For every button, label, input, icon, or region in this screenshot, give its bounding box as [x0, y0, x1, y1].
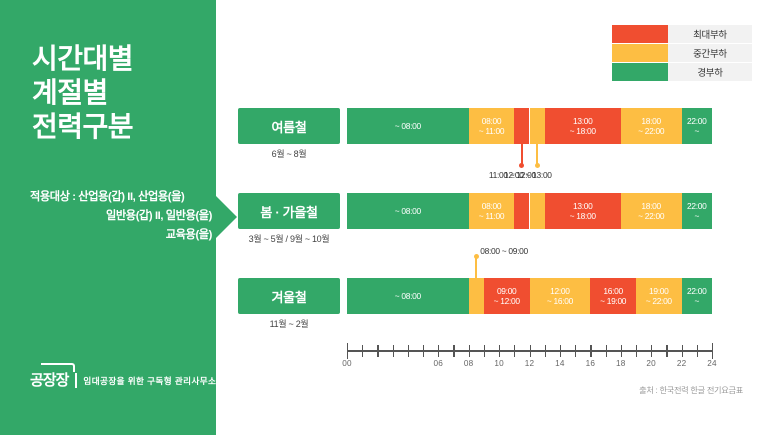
bar-segment [530, 108, 545, 144]
axis-tick-label: 00 [342, 359, 352, 368]
callout-line [475, 256, 477, 278]
callout-dot [535, 163, 540, 168]
segment-time-start: 19:00 [649, 286, 668, 297]
bar-segment: ~ 08:00 [347, 278, 469, 314]
segment-time-end: ~ 12:00 [494, 296, 520, 307]
axis-tick-label: 10 [494, 359, 504, 368]
source-note: 출처 : 한국전력 한글 전기요금표 [639, 384, 743, 396]
season-period-0: 6월 ~ 8월 [238, 147, 340, 160]
time-axis: 0006081012141618202224 [347, 350, 712, 352]
bar-segment: 08:00~ 11:00 [469, 108, 515, 144]
bar-segment: 08:00~ 11:00 [469, 193, 515, 229]
axis-tick [393, 345, 394, 357]
bar-segment: 12:00~ 16:00 [530, 278, 591, 314]
axis-tick [575, 345, 576, 357]
segment-time-start: 09:00 [497, 286, 516, 297]
bar-segment: 19:00~ 22:00 [636, 278, 682, 314]
season-bar-1: ~ 08:0008:00~ 11:0013:00~ 18:0018:00~ 22… [347, 193, 712, 229]
segment-time-end: ~ [694, 296, 699, 307]
bar-segment: 22:00~ [682, 278, 712, 314]
segment-time-end: ~ 16:00 [547, 296, 573, 307]
axis-tick [499, 345, 500, 357]
segment-time-start: 13:00 [573, 116, 592, 127]
axis-tick-label: 24 [707, 359, 717, 368]
segment-time-end: ~ [694, 211, 699, 222]
segment-time-end: ~ [694, 126, 699, 137]
chart-area: 여름철6월 ~ 8월~ 08:0008:00~ 11:0013:00~ 18:0… [0, 0, 773, 435]
bar-segment: ~ 08:00 [347, 193, 469, 229]
axis-tick-label: 18 [616, 359, 626, 368]
bar-segment: 18:00~ 22:00 [621, 193, 682, 229]
segment-time-end: ~ 11:00 [479, 126, 504, 137]
segment-time-start: 22:00 [687, 286, 706, 297]
axis-tick-label: 20 [646, 359, 656, 368]
axis-tick [514, 345, 515, 357]
bar-segment: 18:00~ 22:00 [621, 108, 682, 144]
callout-label: 12:00 ~ 13:00 [504, 170, 552, 180]
season-label-1: 봄 · 가을철 [238, 193, 340, 229]
season-label-2: 겨울철 [238, 278, 340, 314]
bar-segment: 13:00~ 18:00 [545, 193, 621, 229]
axis-tick [377, 345, 378, 357]
axis-tick [484, 345, 485, 357]
axis-tick [682, 345, 683, 357]
segment-time-end: ~ 18:00 [570, 211, 596, 222]
axis-tick [347, 343, 348, 359]
bar-segment [514, 108, 529, 144]
axis-tick-label: 08 [464, 359, 474, 368]
segment-time-start: ~ 08:00 [395, 206, 421, 217]
callout-dot [519, 163, 524, 168]
axis-tick [651, 345, 652, 357]
axis-tick [621, 345, 622, 357]
season-label-0: 여름철 [238, 108, 340, 144]
axis-tick [636, 345, 637, 357]
bar-segment: 16:00~ 19:00 [590, 278, 636, 314]
axis-tick [606, 345, 607, 357]
segment-time-start: 18:00 [641, 116, 660, 127]
bar-segment: ~ 08:00 [347, 108, 469, 144]
segment-time-end: ~ 22:00 [638, 211, 664, 222]
axis-tick [469, 345, 470, 357]
segment-time-start: ~ 08:00 [395, 121, 421, 132]
segment-time-start: 08:00 [482, 116, 501, 127]
axis-tick [408, 345, 409, 357]
axis-tick [423, 345, 424, 357]
segment-time-start: 12:00 [550, 286, 569, 297]
callout-label: 08:00 ~ 09:00 [480, 246, 528, 256]
axis-tick [362, 345, 363, 357]
axis-tick-label: 06 [433, 359, 443, 368]
segment-time-end: ~ 22:00 [646, 296, 672, 307]
segment-time-end: ~ 11:00 [479, 211, 504, 222]
bar-segment [530, 193, 545, 229]
segment-time-start: ~ 08:00 [395, 291, 421, 302]
segment-time-start: 13:00 [573, 201, 592, 212]
axis-tick [545, 345, 546, 357]
axis-tick [560, 345, 561, 357]
axis-tick-label: 12 [525, 359, 535, 368]
bar-segment: 22:00~ [682, 193, 712, 229]
segment-time-start: 18:00 [641, 201, 660, 212]
segment-time-end: ~ 22:00 [638, 126, 664, 137]
bar-segment: 22:00~ [682, 108, 712, 144]
segment-time-start: 22:00 [687, 201, 706, 212]
axis-tick [438, 345, 439, 357]
axis-tick-label: 22 [677, 359, 687, 368]
axis-tick-label: 14 [555, 359, 565, 368]
bar-segment [469, 278, 484, 314]
axis-tick [666, 345, 667, 357]
axis-tick-label: 16 [586, 359, 596, 368]
season-period-1: 3월 ~ 5월 / 9월 ~ 10월 [238, 232, 340, 245]
segment-time-start: 08:00 [482, 201, 501, 212]
axis-tick [697, 345, 698, 357]
callout-dot [474, 254, 479, 259]
axis-tick [590, 345, 591, 357]
segment-time-end: ~ 19:00 [600, 296, 626, 307]
axis-tick [453, 345, 454, 357]
bar-segment: 13:00~ 18:00 [545, 108, 621, 144]
axis-tick [530, 345, 531, 357]
bar-segment: 09:00~ 12:00 [484, 278, 530, 314]
segment-time-start: 16:00 [603, 286, 622, 297]
segment-time-start: 22:00 [687, 116, 706, 127]
season-bar-0: ~ 08:0008:00~ 11:0013:00~ 18:0018:00~ 22… [347, 108, 712, 144]
season-bar-2: ~ 08:0009:00~ 12:0012:00~ 16:0016:00~ 19… [347, 278, 712, 314]
segment-time-end: ~ 18:00 [570, 126, 596, 137]
bar-segment [514, 193, 529, 229]
season-period-2: 11월 ~ 2월 [238, 317, 340, 330]
axis-tick [712, 343, 713, 359]
